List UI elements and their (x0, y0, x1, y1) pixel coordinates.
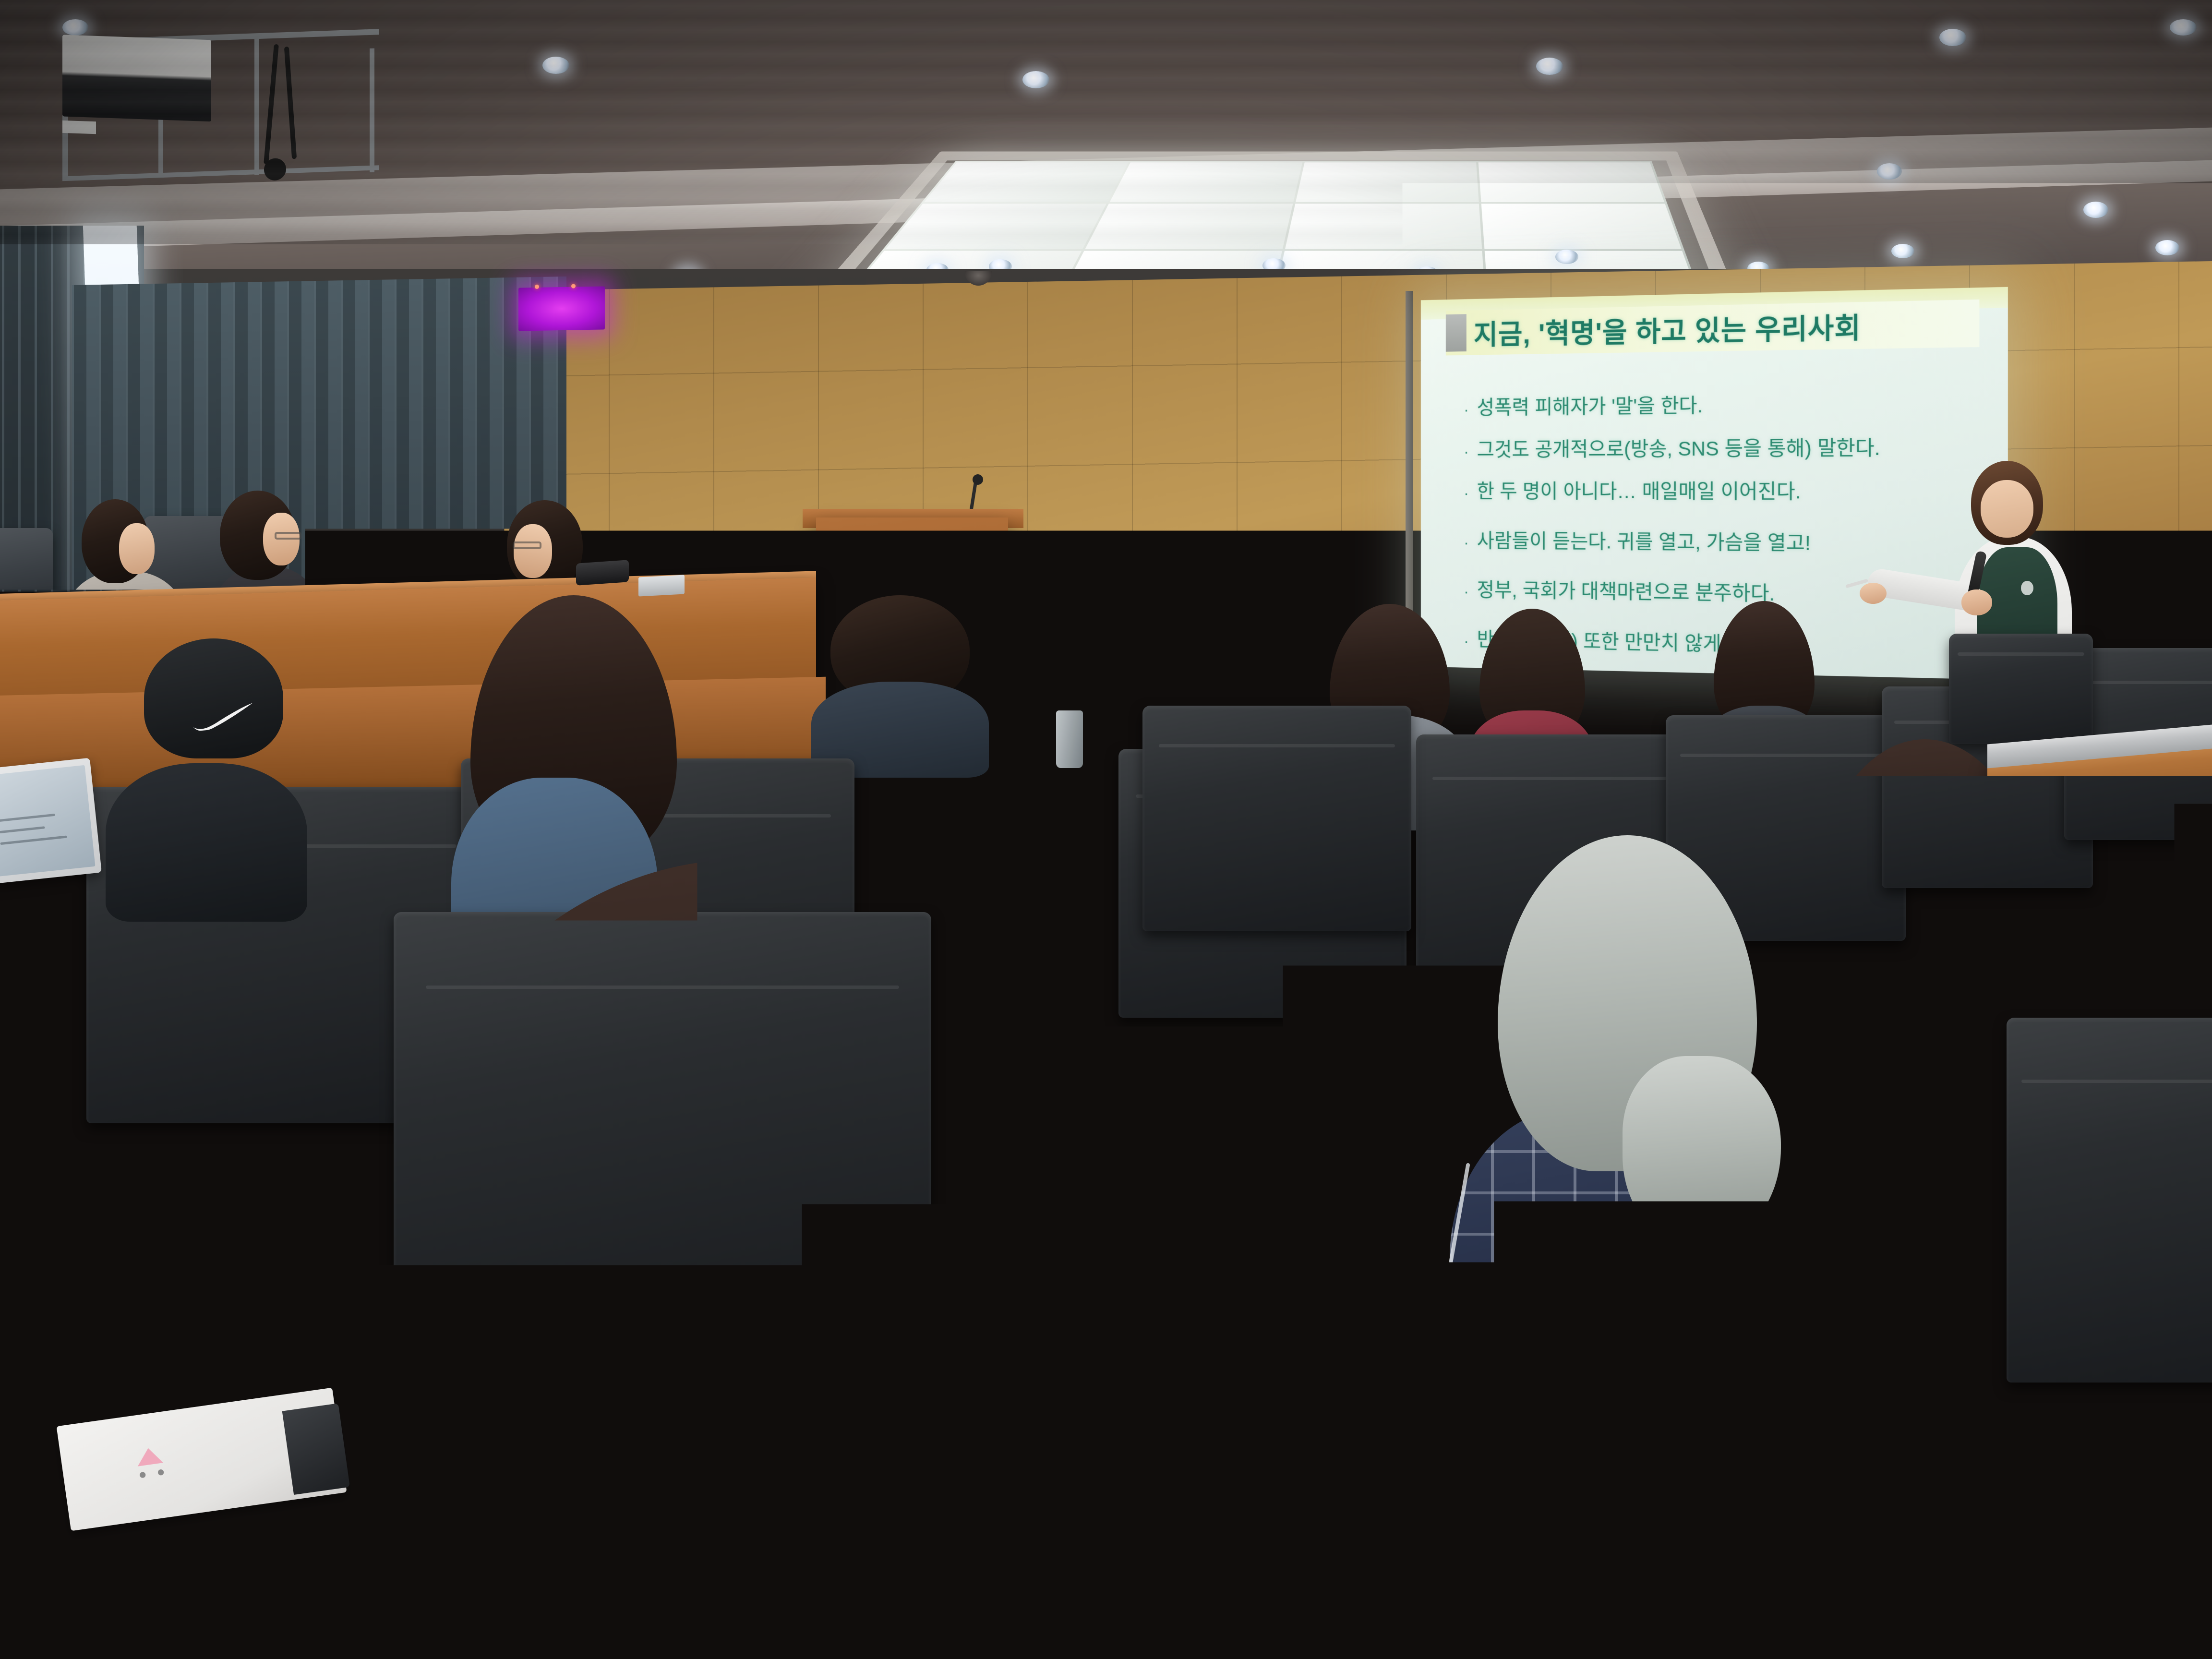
presenter-left-hand (1860, 583, 1887, 604)
bullet-marker-icon: · (1464, 633, 1469, 649)
booklet-face-icon (1334, 1214, 1412, 1262)
open-laptop[interactable] (0, 758, 102, 884)
downlight-icon (1891, 244, 1914, 258)
downlight-icon (1939, 29, 1966, 46)
bullet-text: 한 두 명이 아니다… 매일매일 이어진다. (1477, 480, 1801, 504)
slide-title-bracket-icon (1446, 314, 1467, 351)
conference-hall-photo: 지금, '혁명'을 하고 있는 우리사회 · 성폭력 피해자가 '말'을 한다.… (0, 0, 2212, 1659)
downlight-icon (542, 57, 569, 74)
downlight-icon (62, 19, 88, 36)
audience-chair[interactable] (1536, 1296, 2212, 1659)
coffee-cup-sleeve (148, 1277, 269, 1392)
audience-chair[interactable] (1142, 706, 1411, 931)
attendee-torso (106, 763, 307, 922)
panelist-glasses-icon (513, 541, 541, 549)
slide-bullet: · 사람들이 듣는다. 귀를 열고, 가슴을 열고! (1464, 529, 1984, 556)
notebook-graphic-icon (121, 1439, 180, 1490)
head-table-nameplate (638, 575, 685, 596)
downlight-icon (2170, 19, 2197, 36)
bullet-marker-icon: · (1464, 485, 1469, 501)
podium-emblem-icon (902, 563, 931, 592)
bullet-marker-icon: · (1464, 444, 1469, 459)
slide-bullet: · 그것도 공개적으로(방송, SNS 등을 통해) 말한다. (1464, 435, 1984, 461)
audience-chair[interactable] (624, 1277, 1575, 1659)
audience-chair[interactable] (1949, 634, 2093, 744)
downlight-icon (2155, 240, 2179, 255)
bullet-text: 성폭력 피해자가 '말'을 한다. (1477, 394, 1703, 419)
presenter-face (1981, 480, 2033, 538)
slide-bullet: · 한 두 명이 아니다… 매일매일 이어진다. (1464, 480, 1984, 504)
panelist-glasses-icon (275, 532, 301, 540)
podium-mic-head-icon (973, 474, 983, 485)
downlight-icon (1536, 58, 1563, 75)
bullet-marker-icon: · (1464, 534, 1469, 550)
panelist-face (119, 523, 155, 574)
illuminated-wall-sign (518, 286, 605, 331)
bullet-marker-icon: · (1464, 402, 1469, 418)
white-notebook[interactable] (57, 1388, 347, 1531)
presenter-brooch-icon (2021, 581, 2033, 595)
head-table-microphone (576, 560, 629, 586)
ceiling-projector (62, 35, 211, 121)
panelist-face (514, 524, 552, 578)
bullet-text: 정부, 국회가 대책마련으로 분주하다. (1477, 578, 1775, 606)
bullet-text: 그것도 공개적으로(방송, SNS 등을 통해) 말한다. (1477, 436, 1880, 461)
attendee-ponytail-tail (1623, 1056, 1781, 1248)
downlight-icon (1877, 163, 1902, 180)
wall-power-panel[interactable] (1052, 638, 1105, 667)
presenter-right-hand (1961, 589, 1992, 615)
projector-mount-cage (62, 27, 427, 184)
bullet-text: 사람들이 듣는다. 귀를 열고, 가슴을 열고! (1477, 529, 1811, 555)
downlight-icon (1022, 71, 1049, 88)
downlight-icon (1555, 250, 1578, 264)
attendee-cap (144, 638, 283, 758)
bullet-marker-icon: · (1464, 584, 1469, 600)
downlight-icon (2083, 202, 2108, 218)
water-bottle[interactable] (1056, 710, 1083, 768)
slide-bullet: · 성폭력 피해자가 '말'을 한다. (1464, 391, 1984, 420)
slide-title: 지금, '혁명'을 하고 있는 우리사회 (1474, 305, 1861, 352)
